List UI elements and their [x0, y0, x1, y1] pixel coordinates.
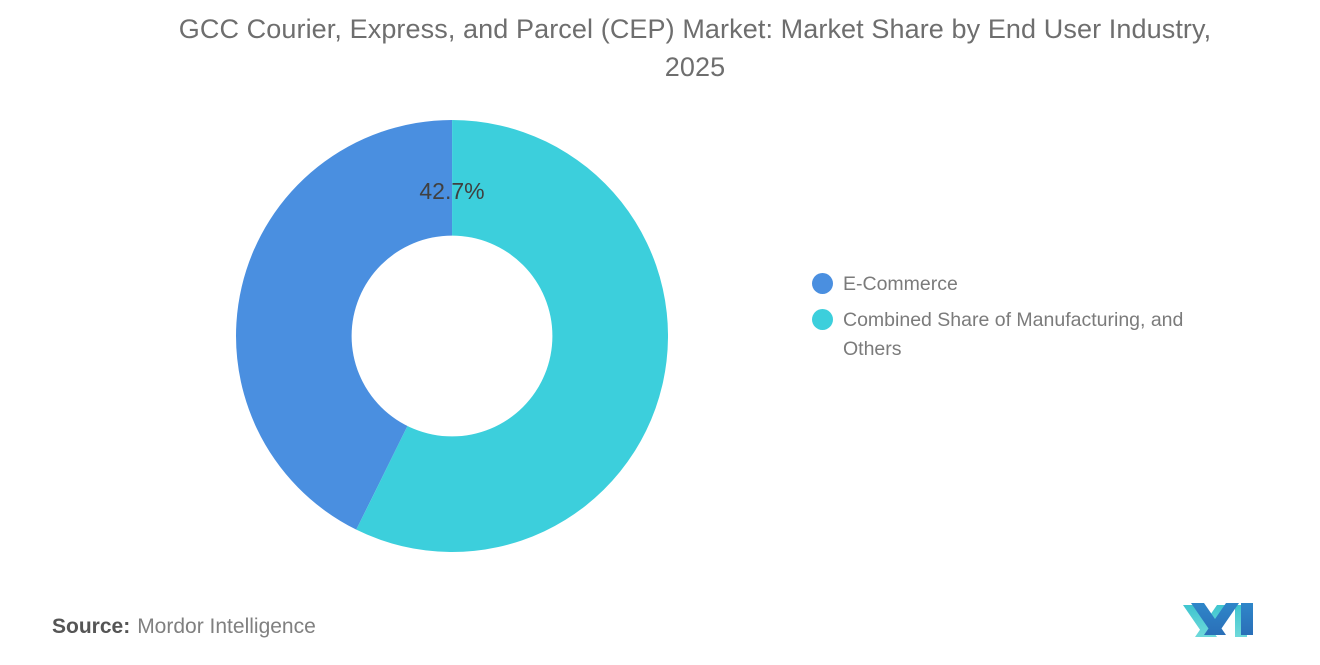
donut-chart-svg [236, 120, 668, 552]
legend-swatch-icon [812, 273, 833, 294]
legend-item-label: E-Commerce [843, 270, 958, 299]
legend-swatch-icon [812, 309, 833, 330]
legend-item-label: Combined Share of Manufacturing, and Oth… [843, 306, 1243, 364]
mordor-intelligence-logo-icon [1183, 597, 1257, 641]
legend-item-combined-share[interactable]: Combined Share of Manufacturing, and Oth… [812, 306, 1252, 364]
donut-chart: 42.7% [236, 120, 668, 552]
source-line: Source:Mordor Intelligence [52, 612, 316, 642]
chart-title: GCC Courier, Express, and Parcel (CEP) M… [160, 10, 1230, 86]
source-value: Mordor Intelligence [137, 615, 316, 638]
source-label: Source: [52, 615, 130, 638]
donut-hole [352, 236, 553, 437]
legend-item-e-commerce[interactable]: E-Commerce [812, 270, 1252, 299]
chart-legend: E-Commerce Combined Share of Manufacturi… [812, 270, 1252, 371]
